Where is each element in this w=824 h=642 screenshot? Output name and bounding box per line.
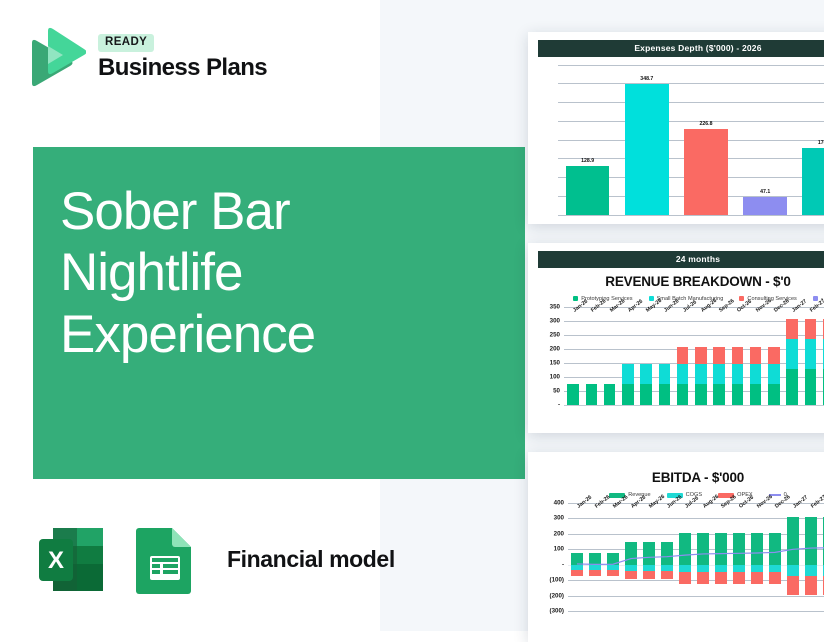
bar-segment [713,347,725,364]
gridline [564,377,824,378]
bar-segment [786,319,798,339]
gridline [564,405,824,406]
brand-text-block: READY Business Plans [98,34,267,80]
stacked-bar-column [604,384,616,405]
financial-model-label: Financial model [227,546,395,573]
y-axis-tick: 100 [554,546,564,553]
y-axis-tick: 250 [550,331,560,338]
bar-value-label: 47.1 [760,189,770,195]
stacked-bar-column [659,364,671,405]
bar-segment [713,364,725,384]
plot-area-ebitda: 400300200100-(100)(200)(300)Jan-26Feb-26… [568,503,824,611]
y-axis-tick: 350 [550,303,560,310]
bar-segment [567,384,579,405]
y-axis-tick: 50 [553,387,560,394]
bar-segment [677,364,689,384]
bar [743,197,787,215]
bar-segment [659,384,671,405]
stacked-bar-column [750,347,762,404]
bar-segment [786,369,798,405]
y-axis-tick: 200 [554,530,564,537]
y-axis-tick: 150 [550,359,560,366]
y-axis-tick: 100 [550,373,560,380]
poster-page: READY Business Plans Sober Bar Nightlife… [0,0,824,631]
gridline [564,349,824,350]
y-axis-tick: - [558,401,560,408]
chart-card-ebitda[interactable]: EBITDA - $'000 RevenueCOGSOPEX0 40030020… [528,452,824,642]
legend-color-swatch [649,296,654,301]
bar-value-label: 348.7 [640,76,653,82]
bar-segment [622,364,634,384]
bar-segment [604,384,616,405]
gridline [558,102,824,103]
chart-title-ebitda: EBITDA - $'000 [538,470,824,485]
stacked-bar-column [786,319,798,405]
plot-area-revenue-breakdown: 35030025020015010050-Jan-26Feb-26Mar-26A… [564,307,824,405]
bar-segment [586,384,598,405]
plot-area-expenses: 128.9348.7226.847.1176.5 [558,65,824,215]
stacked-bar-column [586,384,598,405]
bar-segment [732,364,744,384]
bar-segment [768,364,780,384]
gridline [564,363,824,364]
y-axis-tick: 200 [550,345,560,352]
y-axis-tick: (200) [550,592,564,599]
stacked-bar-column [768,347,780,404]
legend-color-swatch [739,296,744,301]
stacked-bar-column [695,347,707,404]
chart-title-expenses: Expenses Depth ($'000) - 2026 [538,40,824,57]
gridline [558,83,824,84]
chart-card-expenses[interactable]: Expenses Depth ($'000) - 2026 128.9348.7… [528,32,824,224]
bar-segment [750,384,762,405]
chart-card-revenue-breakdown[interactable]: 24 months REVENUE BREAKDOWN - $'0 Protot… [528,243,824,433]
page-title: Sober Bar Nightlife Experience [60,181,500,365]
bar [802,148,824,214]
bar-segment [786,339,798,368]
bar-segment [768,347,780,364]
ready-badge: READY [98,34,154,52]
bar-segment [677,347,689,364]
stacked-bar-column [622,364,634,405]
bar-value-label: 128.9 [581,158,594,164]
bar-segment [732,347,744,364]
y-axis-tick: 300 [550,317,560,324]
bar-segment [750,364,762,384]
stacked-bar-column [713,347,725,404]
brand-name: Business Plans [98,55,267,80]
bar-segment [695,384,707,405]
bar-segment [750,347,762,364]
svg-text:X: X [48,547,64,574]
gridline [558,121,824,122]
y-axis-tick: 400 [554,500,564,507]
gridline [564,321,824,322]
bar-segment [640,384,652,405]
hero-panel: Sober Bar Nightlife Experience [33,147,525,479]
play-triangles-logo-icon [26,26,86,88]
bar-segment [659,364,671,384]
bar-segment [695,364,707,384]
y-axis-tick: (100) [550,577,564,584]
stacked-bar-column [732,347,744,404]
bar-value-label: 226.8 [700,121,713,127]
bar [566,166,610,214]
ebitda-zero-line [568,503,824,611]
stacked-bar-column [805,319,817,405]
bar-segment [622,384,634,405]
chart-ribbon-24-months: 24 months [538,251,824,268]
bar-segment [713,384,725,405]
bar [684,129,728,214]
bar-segment [768,384,780,405]
stacked-bar-column [677,347,689,404]
bar-value-label: 176.5 [818,140,824,146]
stacked-bar-column [567,384,579,405]
gridline [558,215,824,216]
y-axis-tick: 300 [554,515,564,522]
excel-file-icon: X [33,520,111,598]
bar-segment [805,369,817,405]
bar-segment [640,364,652,384]
legend-color-swatch [573,296,578,301]
bar-segment [695,347,707,364]
chart-title-revenue-breakdown: REVENUE BREAKDOWN - $'0 [538,274,824,289]
bar [625,84,669,215]
gridline [558,65,824,66]
legend-color-swatch [813,296,818,301]
bar-segment [805,339,817,368]
google-sheets-file-icon [125,520,203,598]
y-axis-tick: (300) [550,608,564,615]
file-format-row: X Financial model [33,520,395,598]
stacked-bar-column [640,364,652,405]
bar-segment [677,384,689,405]
bar-segment [805,319,817,339]
gridline [568,611,824,612]
brand-lockup: READY Business Plans [26,26,267,88]
y-axis-tick: - [562,561,564,568]
gridline [564,335,824,336]
bar-segment [732,384,744,405]
